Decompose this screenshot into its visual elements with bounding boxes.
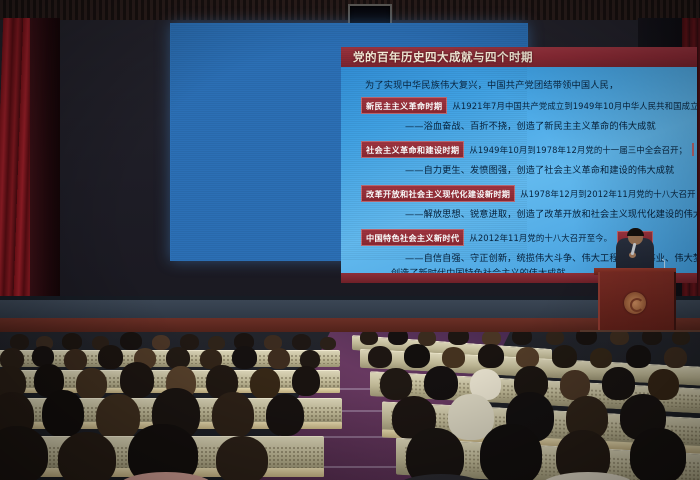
audience-head <box>152 335 170 350</box>
audience-head <box>232 346 257 369</box>
period-header-2: 社会主义革命和建设时期 从1949年10月到1978年12月党的十一届三中全会召… <box>361 141 681 158</box>
audience-head <box>590 348 612 368</box>
audience-head <box>552 345 577 368</box>
audience-head <box>642 332 662 345</box>
period-range-1: 从1921年7月中国共产党成立到1949年10月中华人民共和国成立； <box>452 100 697 112</box>
audience-head-foreground <box>0 426 48 480</box>
audience-head <box>442 347 465 368</box>
audience-head-foreground <box>58 432 116 480</box>
period-achievement-1: ——浴血奋战、百折不挠，创造了新民主主义革命的伟大成就 <box>361 118 681 132</box>
audience-head <box>610 332 629 345</box>
period-block-3: 改革开放和社会主义现代化建设新时期 从1978年12月到2012年11月党的十八… <box>361 185 681 220</box>
stage-curtain-left-shadow <box>30 18 60 318</box>
audience-head <box>250 368 280 399</box>
audience-head <box>292 366 320 396</box>
audience-head <box>448 332 469 345</box>
period-achievement-2: ——自力更生、发愤图强，创造了社会主义革命和建设的伟大成就 <box>361 162 681 176</box>
audience-head <box>42 390 84 437</box>
audience-head <box>292 334 311 350</box>
audience-head <box>208 336 225 350</box>
audience-head <box>360 332 378 345</box>
period-achievement-3: ——解放思想、锐意进取，创造了改革开放和社会主义现代化建设的伟大成就 <box>361 206 681 220</box>
lecture-hall-photo: 党的百年历史四大成就与四个时期 为了实现中华民族伟大复兴，中国共产党团结带领中国… <box>0 0 700 480</box>
audience-head <box>320 337 336 350</box>
audience-head <box>76 368 107 400</box>
period-tag-2: 社会主义革命和建设时期 <box>361 141 464 158</box>
period-header-1: 新民主主义革命时期 从1921年7月中国共产党成立到1949年10月中华人民共和… <box>361 97 681 114</box>
audience-head <box>576 332 597 345</box>
audience-head <box>626 345 651 368</box>
period-block-2: 社会主义革命和建设时期 从1949年10月到1978年12月党的十一届三中全会召… <box>361 141 681 176</box>
audience-head <box>602 367 635 400</box>
audience-head <box>96 394 140 440</box>
period-header-3: 改革开放和社会主义现代化建设新时期 从1978年12月到2012年11月党的十八… <box>361 185 681 202</box>
audience-head <box>266 394 304 436</box>
audience-head <box>380 368 412 400</box>
audience-head-foreground <box>406 428 464 480</box>
audience-head <box>664 347 687 368</box>
period-block-1: 新民主主义革命时期 从1921年7月中国共产党成立到1949年10月中华人民共和… <box>361 97 681 132</box>
audience-head <box>478 344 504 368</box>
audience-head <box>516 347 539 368</box>
audience-head <box>62 333 82 350</box>
audience-head <box>512 332 532 345</box>
audience-head <box>120 332 142 350</box>
slide-title-bar: 党的百年历史四大成就与四个时期 <box>341 47 697 67</box>
period-range-2: 从1949年10月到1978年12月党的十一届三中全会召开； <box>469 144 687 156</box>
slide-title: 党的百年历史四大成就与四个时期 <box>353 49 533 65</box>
decor-red-box-2 <box>692 143 694 156</box>
audience-head <box>268 348 290 369</box>
period-range-3: 从1978年12月到2012年11月党的十八大召开； <box>520 188 697 200</box>
audience-head-foreground <box>630 428 686 480</box>
slide-intro-text: 为了实现中华民族伟大复兴，中国共产党团结带领中国人民， <box>365 77 618 91</box>
speaker-hair <box>627 228 644 236</box>
audience-area <box>0 332 700 480</box>
period-range-4: 从2012年11月党的十八大召开至今。 <box>469 232 612 244</box>
audience-head <box>98 345 123 369</box>
circular-school-emblem-icon <box>624 292 646 314</box>
audience-head-foreground <box>480 424 542 480</box>
audience-head <box>424 366 458 400</box>
audience-head <box>368 346 392 368</box>
audience-head <box>546 332 564 345</box>
audience-head <box>120 362 154 398</box>
period-tag-3: 改革开放和社会主义现代化建设新时期 <box>361 185 515 202</box>
period-tag-1: 新民主主义革命时期 <box>361 97 447 114</box>
audience-head <box>672 332 690 345</box>
audience-head <box>388 332 408 345</box>
slide-body: 为了实现中华民族伟大复兴，中国共产党团结带领中国人民， 新民主主义革命时期 从1… <box>341 67 697 267</box>
audience-head <box>64 349 87 371</box>
audience-head <box>404 344 430 368</box>
audience-head-foreground <box>216 436 268 480</box>
audience-head <box>212 392 254 438</box>
period-tag-4: 中国特色社会主义新时代 <box>361 229 464 246</box>
projection-screen: 党的百年历史四大成就与四个时期 为了实现中华民族伟大复兴，中国共产党团结带领中国… <box>170 23 528 261</box>
